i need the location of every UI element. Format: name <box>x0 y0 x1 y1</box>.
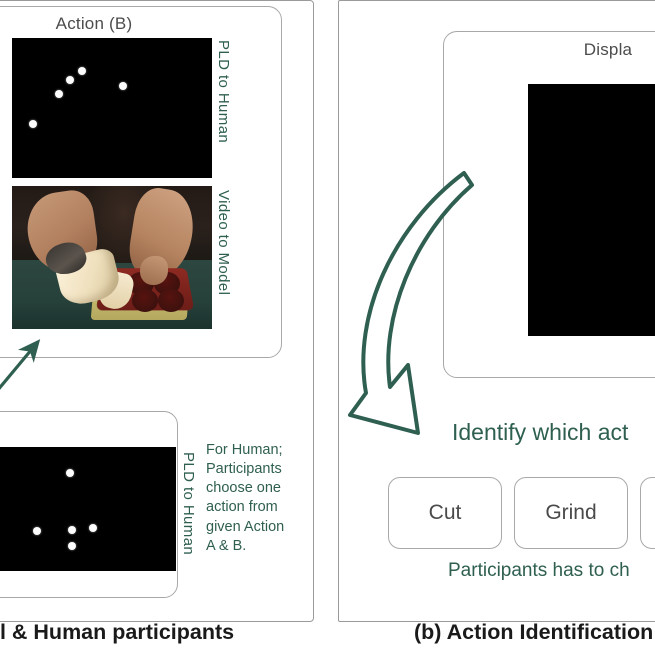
note-line: given Action <box>206 518 314 537</box>
note-line: A & B. <box>206 537 314 556</box>
action-b-title: Action (B) <box>0 14 280 34</box>
pld-dot <box>119 82 127 90</box>
video-tray-hole <box>158 289 184 312</box>
note-line: Participants <box>206 460 314 479</box>
pld-dot <box>66 76 74 84</box>
pld-stimulus-action-b <box>12 38 212 178</box>
human-instruction-note: For Human; Participants choose one actio… <box>206 441 314 556</box>
note-line: choose one <box>206 479 314 498</box>
pld-dot <box>55 90 63 98</box>
video-tray-hole <box>132 289 158 312</box>
video-right-hand <box>140 256 168 285</box>
pld-dot <box>66 469 74 477</box>
choose-instruction-note: Participants has to ch <box>448 560 630 582</box>
action-option-button-grind[interactable]: Grind <box>514 477 628 549</box>
pld-stimulus-action-t <box>0 447 176 571</box>
action-t-title: (T) <box>0 418 118 438</box>
pld-dot <box>89 524 97 532</box>
pld-dot <box>29 120 37 128</box>
pld-dot <box>68 542 76 550</box>
panel-b-caption: (b) Action Identification T <box>414 620 655 645</box>
action-option-button-cut[interactable]: Cut <box>388 477 502 549</box>
pld-to-human-label-t: PLD to Human <box>180 452 197 555</box>
video-to-model-label: Video to Model <box>215 190 232 295</box>
identify-prompt: Identify which act <box>452 419 628 446</box>
figure-stage: Action (B) PLD to Human Video to Model <box>0 0 655 655</box>
panel-a-caption: OF Model & Human participants <box>0 620 234 645</box>
note-line: For Human; <box>206 441 314 460</box>
pld-dot <box>78 67 86 75</box>
pld-dot <box>68 526 76 534</box>
pld-to-human-label-b: PLD to Human <box>215 40 232 143</box>
action-option-button-3[interactable] <box>640 477 655 549</box>
display-title: Displa <box>443 40 655 60</box>
video-to-model-frame <box>12 186 212 329</box>
pld-dot <box>33 527 41 535</box>
pld-stimulus-display <box>528 84 655 336</box>
note-line: action from <box>206 498 314 517</box>
